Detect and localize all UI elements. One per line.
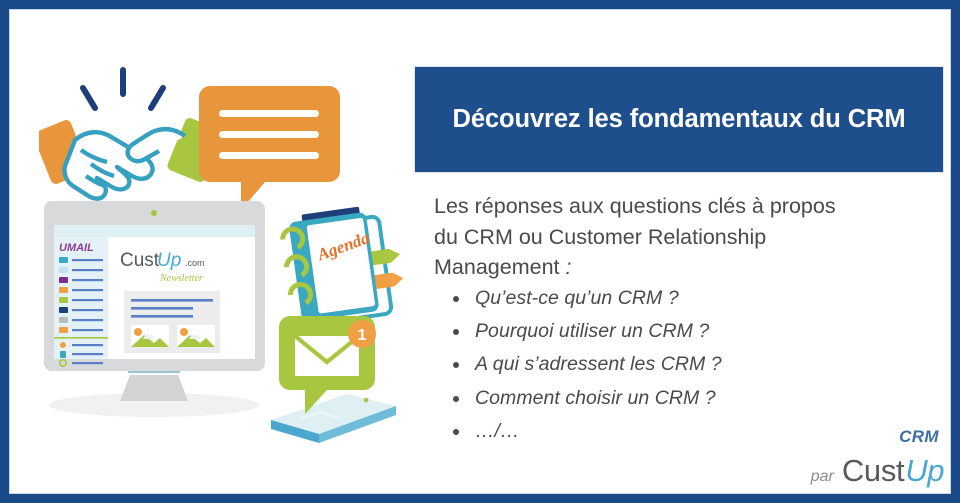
handshake-hands — [64, 129, 185, 199]
list-item: Pourquoi utiliser un CRM ? — [441, 318, 911, 345]
lead-paragraph: Les réponses aux questions clés à propos… — [434, 191, 934, 283]
speech-bubble-icon — [197, 84, 342, 214]
logo-lockup: par Cust Up — [811, 453, 944, 489]
list-item: Qu’est-ce qu’un CRM ? — [441, 285, 911, 312]
logo-brand-first: Cust — [842, 453, 905, 489]
page-title: Découvrez les fondamentaux du CRM — [437, 103, 922, 136]
lead-line-3-text: Management — [434, 255, 560, 279]
monitor-topbar — [54, 225, 255, 237]
title-banner: Découvrez les fondamentaux du CRM — [415, 67, 943, 172]
brand-logo: CRM par Cust Up — [769, 427, 949, 499]
poster-frame: UMAIL Cust — [0, 0, 960, 503]
mail-sidebar-title: UMAIL — [59, 242, 94, 254]
newsletter-brand-first: Cust — [120, 250, 160, 271]
newsletter-subtitle: Newsletter — [159, 273, 203, 284]
mail-notification-icon: 1 — [261, 314, 406, 449]
handshake-spark-lines — [83, 70, 163, 108]
phone-home-dot — [364, 398, 369, 403]
smartphone-icon — [271, 394, 396, 443]
list-item: Comment choisir un CRM ? — [441, 385, 911, 412]
lead-line-1: Les réponses aux questions clés à propos — [434, 191, 934, 222]
illustration-group: UMAIL Cust — [29, 59, 409, 459]
logo-par-label: par — [811, 468, 834, 486]
list-item: A qui s’adressent les CRM ? — [441, 351, 911, 378]
handshake-icon — [39, 64, 219, 219]
lead-line-3: Management : — [434, 252, 934, 283]
newsletter-brand-second: Up — [157, 250, 181, 271]
unread-badge-count: 1 — [358, 327, 367, 344]
monitor-icon: UMAIL Cust — [42, 199, 267, 419]
lead-colon: : — [560, 255, 572, 279]
logo-brand-second: Up — [905, 453, 944, 489]
monitor-stand — [120, 375, 188, 401]
newsletter-domain: .com — [185, 258, 205, 268]
monitor-camera-dot — [151, 210, 157, 216]
lead-line-2: du CRM ou Customer Relationship — [434, 222, 934, 253]
logo-crm-label: CRM — [899, 427, 939, 447]
poster-canvas: UMAIL Cust — [9, 9, 951, 494]
mail-sidebar-divider — [54, 337, 108, 339]
